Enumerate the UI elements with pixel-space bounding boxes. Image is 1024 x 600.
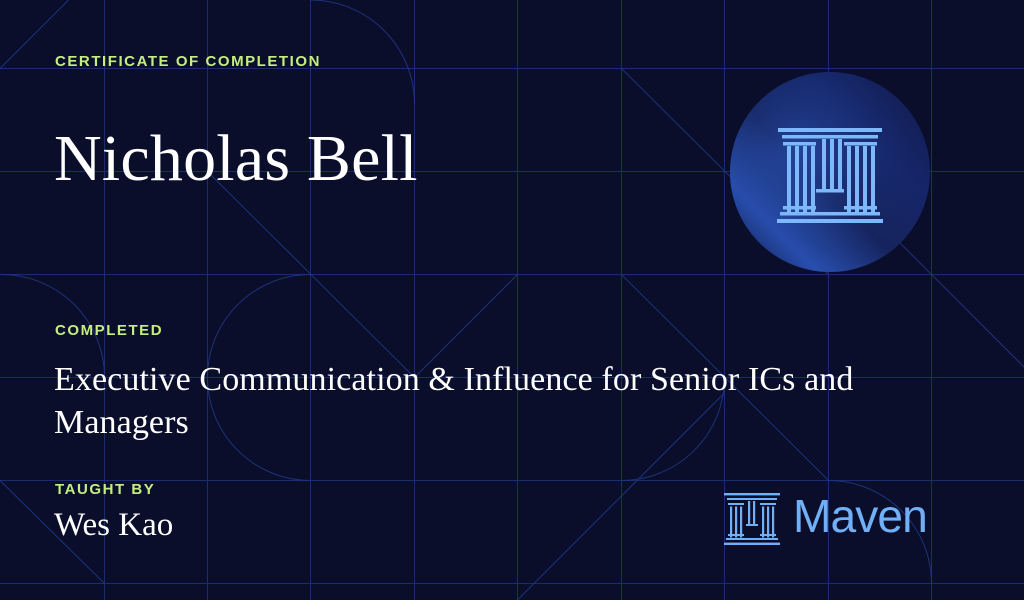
taught-by-label: TAUGHT BY xyxy=(55,481,155,498)
certificate-kicker: CERTIFICATE OF COMPLETION xyxy=(55,53,321,70)
certificate-card: CERTIFICATE OF COMPLETION Nicholas Bell … xyxy=(0,0,1024,600)
recipient-name: Nicholas Bell xyxy=(54,122,418,196)
maven-pillars-mark-icon xyxy=(723,490,781,546)
maven-wordmark-text: Maven xyxy=(793,494,927,542)
course-title: Executive Communication & Influence for … xyxy=(54,358,954,444)
maven-wordmark: Maven xyxy=(793,494,991,542)
instructor-name: Wes Kao xyxy=(54,505,173,545)
completed-label: COMPLETED xyxy=(55,322,163,339)
maven-logo-lockup: Maven xyxy=(723,490,991,546)
